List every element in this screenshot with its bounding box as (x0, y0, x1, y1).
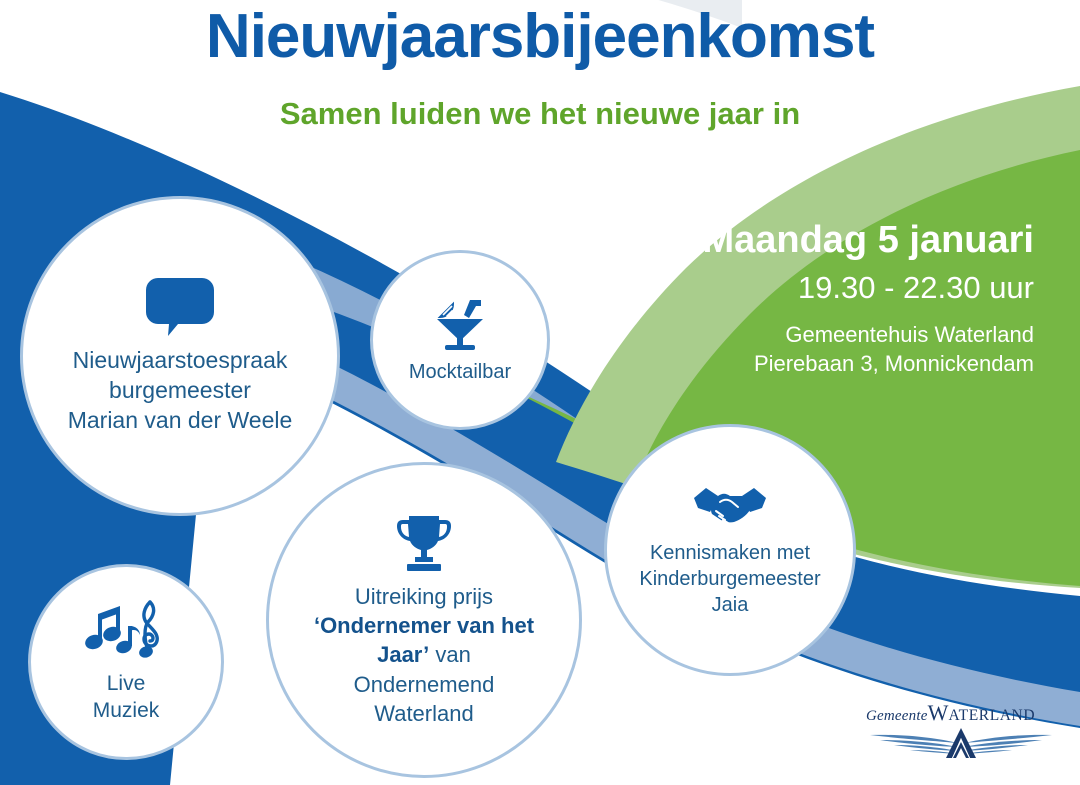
program-text-nieuwjaarstoespraak: Nieuwjaarstoespraak burgemeester Marian … (52, 346, 309, 436)
program-text-ondernemersprijs: Uitreiking prijs ‘Ondernemer van het Jaa… (298, 582, 550, 727)
handshake-icon (692, 482, 768, 532)
trophy-icon (393, 512, 455, 574)
logo-word-w: W (928, 700, 949, 725)
event-date: Maandag 5 januari (594, 218, 1034, 262)
logo-word-aterland: ATERLAND (949, 707, 1036, 724)
program-line-2: Muziek (93, 697, 160, 724)
program-line-1: Kennismaken met (639, 540, 820, 566)
program-line-1: Uitreiking prijs (314, 582, 534, 611)
program-line-5: Waterland (314, 699, 534, 728)
event-venue: Gemeentehuis Waterland (594, 320, 1034, 349)
program-line-3: Jaia (639, 592, 820, 618)
program-line-3: Jaar’ van (314, 640, 534, 669)
waterland-wave-mark (866, 726, 1056, 760)
event-time: 19.30 - 22.30 uur (594, 268, 1034, 308)
program-circle-ondernemersprijs[interactable]: Uitreiking prijs ‘Ondernemer van het Jaa… (266, 462, 582, 778)
poster-title: Nieuwjaarsbijeenkomst (0, 4, 1080, 69)
program-line-3: Marian van der Weele (68, 406, 293, 436)
program-line-1: Mocktailbar (409, 360, 511, 385)
speech-bubble-icon (144, 276, 216, 338)
program-line-2: burgemeester (68, 376, 293, 406)
program-text-mocktailbar: Mocktailbar (393, 360, 527, 385)
program-text-kinderburgemeester: Kennismaken met Kinderburgemeester Jaia (623, 540, 836, 618)
program-circle-nieuwjaarstoespraak[interactable]: Nieuwjaarstoespraak burgemeester Marian … (20, 196, 340, 516)
event-info-block: Maandag 5 januari 19.30 - 22.30 uur Geme… (594, 218, 1034, 378)
logo-word-gemeente: Gemeente (866, 708, 928, 724)
poster-subtitle: Samen luiden we het nieuwe jaar in (0, 96, 1080, 132)
program-line-3-rest: van (429, 642, 471, 667)
event-address: Pierebaan 3, Monnickendam (594, 349, 1034, 378)
program-line-2: Kinderburgemeester (639, 566, 820, 592)
program-text-live-muziek: Live Muziek (77, 670, 176, 725)
program-circle-kinderburgemeester[interactable]: Kennismaken met Kinderburgemeester Jaia (604, 424, 856, 676)
program-line-1: Nieuwjaarstoespraak (68, 346, 293, 376)
program-circle-live-muziek[interactable]: Live Muziek (28, 564, 224, 760)
poster-canvas: Nieuwjaarsbijeenkomst Samen luiden we he… (0, 0, 1080, 785)
music-notes-icon (82, 600, 170, 662)
program-line-3-bold: Jaar’ (377, 642, 429, 667)
program-circle-mocktailbar[interactable]: Mocktailbar (370, 250, 550, 430)
program-line-2-bold: ‘Ondernemer van het (314, 613, 534, 638)
program-line-1: Live (93, 670, 160, 697)
program-line-2: ‘Ondernemer van het (314, 611, 534, 640)
program-line-4: Ondernemend (314, 670, 534, 699)
cocktail-glass-icon (431, 294, 489, 352)
logo-wordmark: GemeenteWATERLAND (866, 700, 1056, 726)
gemeente-waterland-logo: GemeenteWATERLAND (866, 700, 1056, 762)
